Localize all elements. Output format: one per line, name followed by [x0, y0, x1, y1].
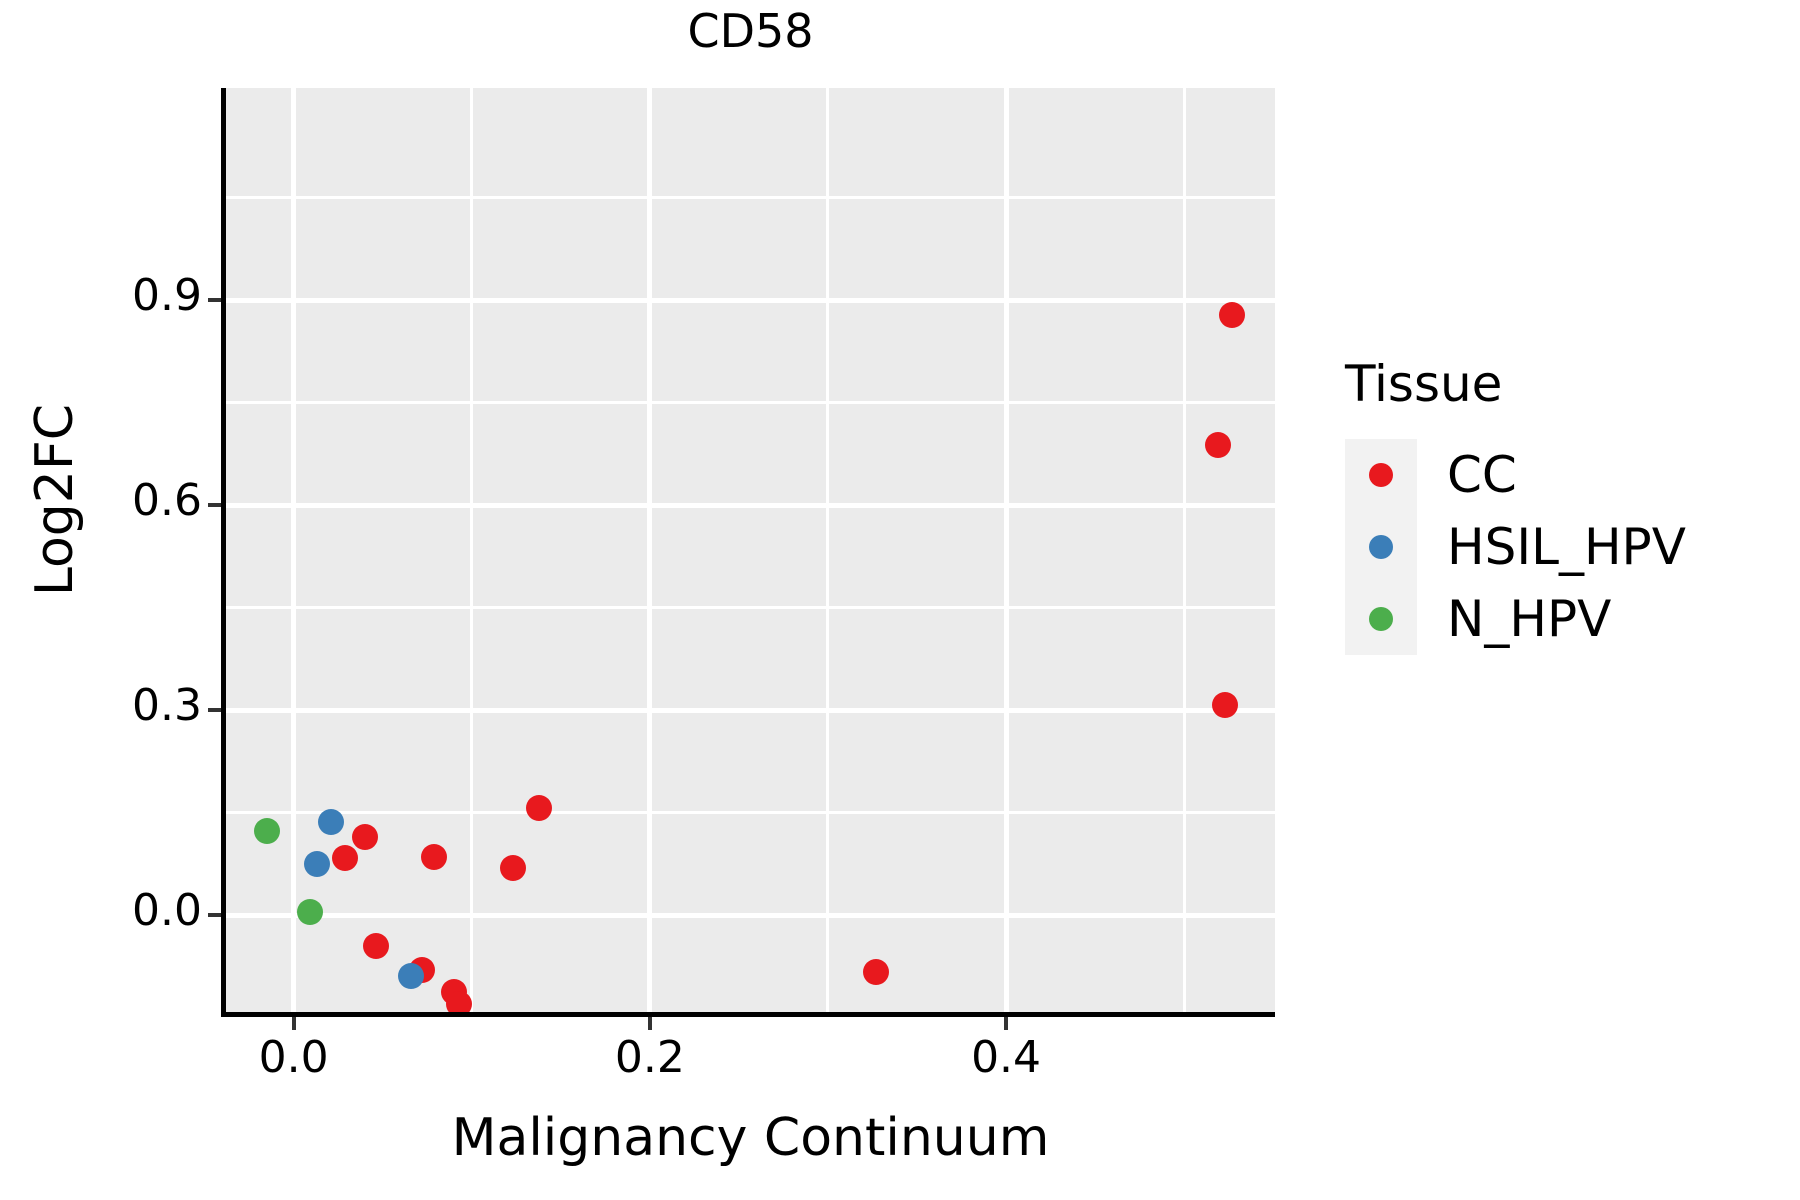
legend-key-swatch — [1345, 511, 1417, 583]
gridline — [826, 88, 829, 1012]
gridline — [647, 88, 652, 1012]
legend-key-swatch — [1345, 583, 1417, 655]
data-point-cc — [1212, 692, 1238, 718]
gridline — [291, 88, 296, 1012]
y-axis-tick — [208, 503, 221, 507]
legend-item-n_hpv[interactable]: N_HPV — [1345, 583, 1785, 655]
data-point-cc — [526, 795, 552, 821]
x-axis-line — [221, 1012, 1275, 1017]
page-title: CD58 — [226, 6, 1275, 57]
plot-panel — [226, 88, 1275, 1012]
gridline — [226, 298, 1275, 303]
data-point-hsil_hpv — [304, 851, 330, 877]
data-point-hsil_hpv — [398, 963, 424, 989]
legend-item-label: CC — [1447, 446, 1517, 504]
data-point-cc — [363, 933, 389, 959]
data-point-cc — [421, 844, 447, 870]
legend-title: Tissue — [1345, 355, 1785, 413]
data-point-cc — [500, 855, 526, 881]
legend-item-cc[interactable]: CC — [1345, 439, 1785, 511]
y-axis-tick-label: 0.0 — [2, 885, 202, 936]
x-axis-tick — [1004, 1017, 1008, 1030]
gridline — [470, 88, 473, 1012]
gridline — [226, 606, 1275, 609]
data-point-hsil_hpv — [318, 809, 344, 835]
legend: Tissue CCHSIL_HPVN_HPV — [1345, 355, 1785, 655]
data-point-cc — [1219, 302, 1245, 328]
x-axis-tick-label: 0.0 — [204, 1032, 384, 1083]
legend-item-label: HSIL_HPV — [1447, 518, 1686, 576]
scatter-plot-figure: CD58 0.00.30.60.90.00.20.4 Malignancy Co… — [0, 0, 1800, 1200]
y-axis-tick — [208, 708, 221, 712]
data-point-cc — [863, 959, 889, 985]
y-axis-title: Log2FC — [25, 270, 85, 730]
legend-entries: CCHSIL_HPVN_HPV — [1345, 439, 1785, 655]
data-point-cc — [446, 991, 472, 1012]
x-axis-tick-label: 0.4 — [916, 1032, 1096, 1083]
data-point-cc — [1205, 432, 1231, 458]
gridline — [226, 503, 1275, 508]
data-point-cc — [352, 824, 378, 850]
x-axis-title: Malignancy Continuum — [226, 1108, 1275, 1168]
legend-item-label: N_HPV — [1447, 590, 1611, 648]
gridline — [226, 401, 1275, 404]
x-axis-tick — [648, 1017, 652, 1030]
gridline — [1183, 88, 1186, 1012]
data-point-n_hpv — [254, 818, 280, 844]
gridline — [1004, 88, 1009, 1012]
y-axis-tick — [208, 298, 221, 302]
y-axis-line — [221, 88, 226, 1016]
x-axis-tick — [292, 1017, 296, 1030]
gridline — [226, 708, 1275, 713]
legend-dot-icon — [1369, 535, 1393, 559]
data-point-n_hpv — [297, 899, 323, 925]
legend-dot-icon — [1369, 463, 1393, 487]
data-point-cc — [332, 845, 358, 871]
gridline — [226, 913, 1275, 918]
legend-key-swatch — [1345, 439, 1417, 511]
gridline — [226, 811, 1275, 814]
y-axis-tick — [208, 913, 221, 917]
gridline — [226, 196, 1275, 199]
legend-item-hsil_hpv[interactable]: HSIL_HPV — [1345, 511, 1785, 583]
x-axis-tick-label: 0.2 — [560, 1032, 740, 1083]
legend-dot-icon — [1369, 607, 1393, 631]
